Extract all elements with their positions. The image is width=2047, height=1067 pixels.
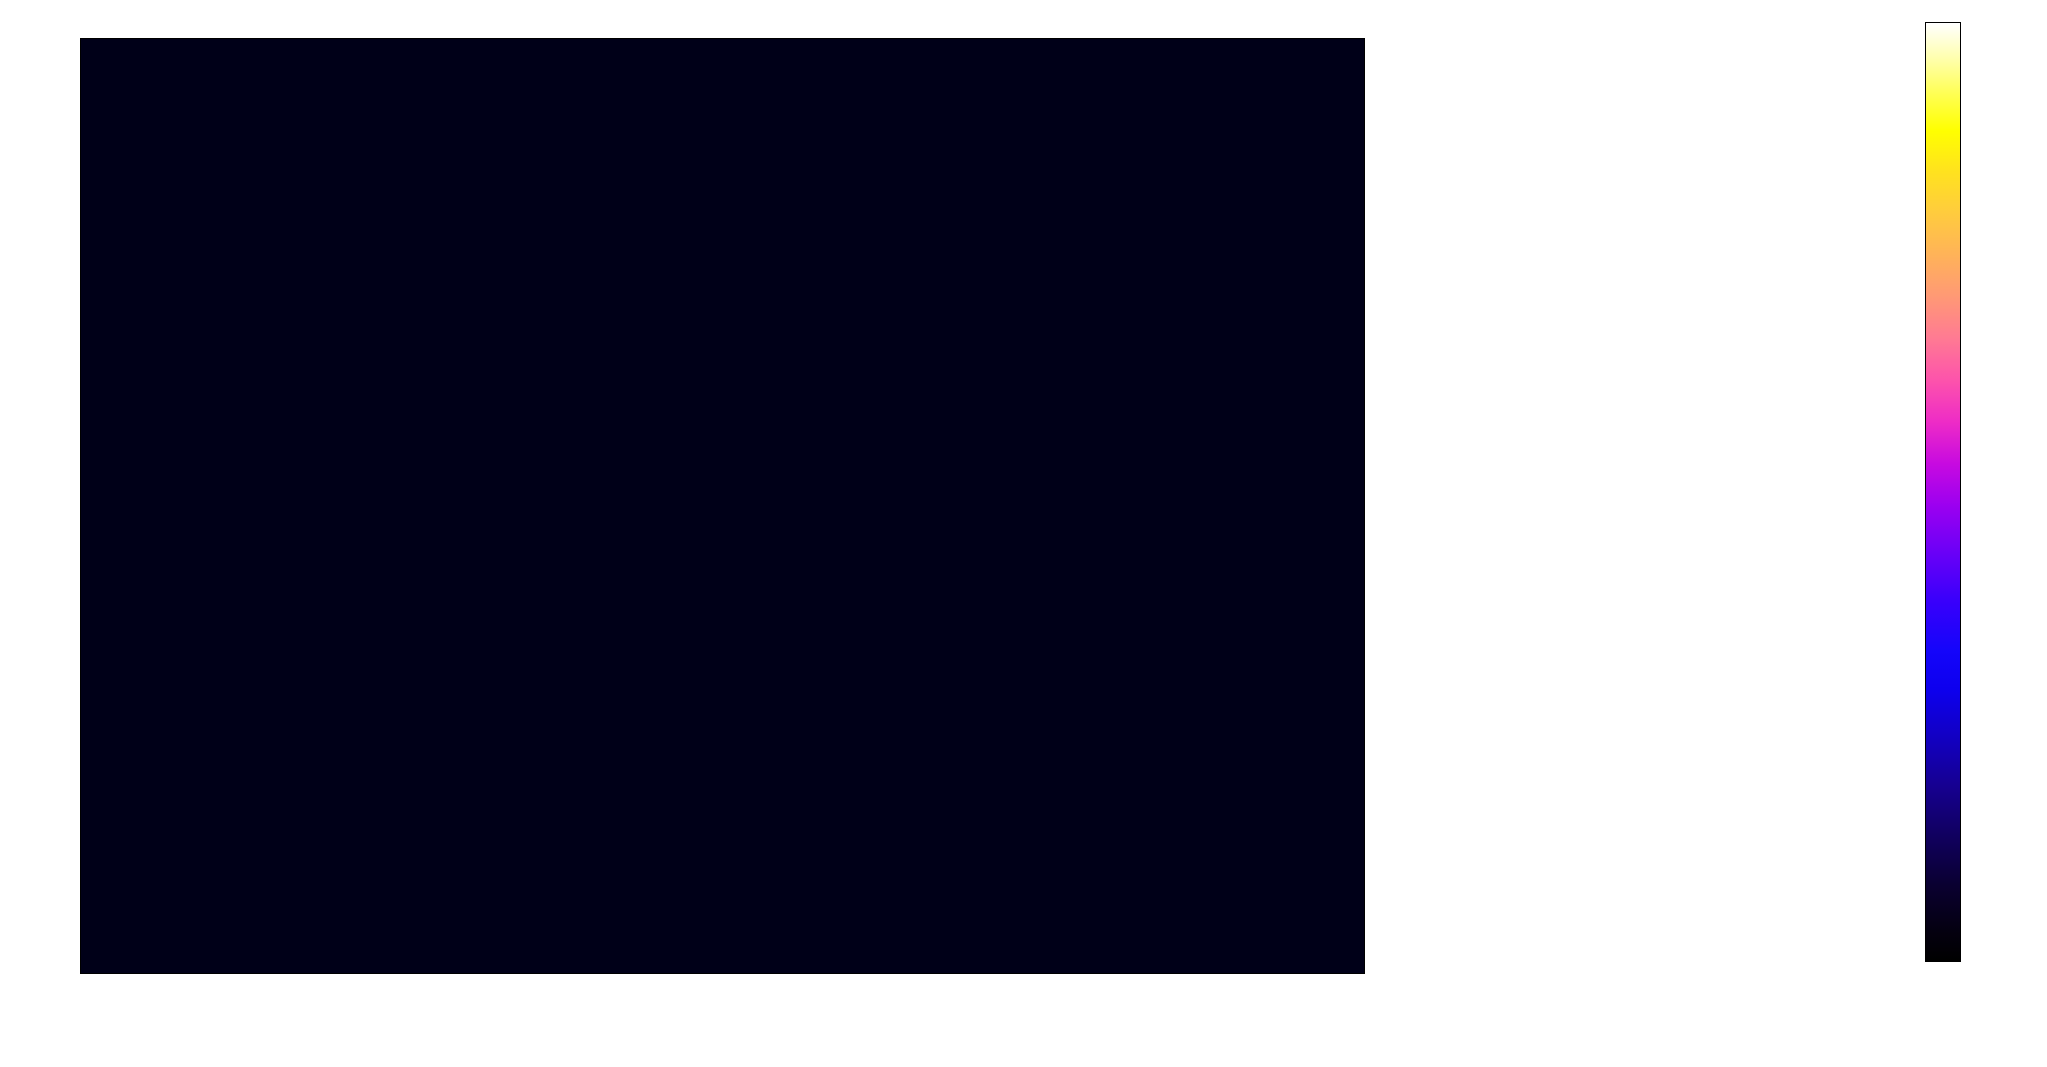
spectrogram-plot-area [80, 38, 1365, 974]
spectrogram-image [81, 39, 1364, 973]
colorbar [1925, 22, 1961, 962]
